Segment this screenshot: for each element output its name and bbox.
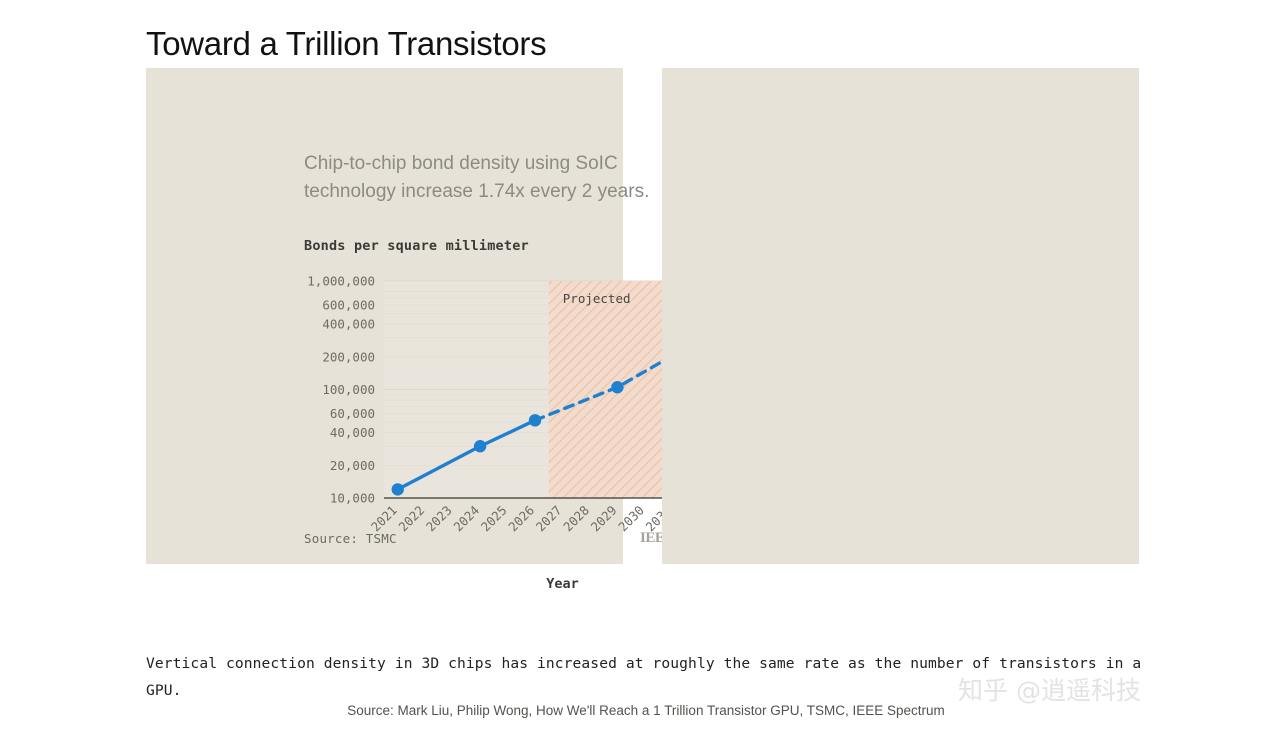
- x-axis-tick-label: 2026: [505, 503, 537, 535]
- y-axis-tick-label: 20,000: [330, 458, 375, 473]
- left-source-note: Source: TSMC: [304, 531, 397, 546]
- x-axis-tick-label: 2021: [368, 503, 400, 535]
- data-point: [392, 483, 404, 495]
- y-axis-tick-label: 100,000: [322, 382, 375, 397]
- y-axis-tick-label: 60,000: [330, 406, 375, 421]
- right-chart-panel: Transistors per processor are increasing…: [662, 68, 1139, 564]
- x-axis-tick-label: 2024: [450, 503, 482, 535]
- y-axis-tick-label: 40,000: [330, 425, 375, 440]
- x-axis-tick-label: 2023: [423, 503, 455, 535]
- y-axis-tick-label: 200,000: [322, 349, 375, 364]
- slide-root: Toward a Trillion Transistors Chip-to-ch…: [0, 0, 1269, 735]
- left-y-axis-title: Bonds per square millimeter: [304, 238, 529, 254]
- data-point: [474, 440, 486, 452]
- x-axis-title: Year: [546, 576, 579, 592]
- projected-region-label: Projected: [563, 291, 631, 306]
- y-axis-tick-label: 10,000: [330, 491, 375, 506]
- y-axis-tick-label: 400,000: [322, 317, 375, 332]
- watermark: 知乎 @逍遥科技: [958, 671, 1141, 707]
- data-point: [529, 414, 541, 426]
- y-axis-tick-label: 600,000: [322, 298, 375, 313]
- x-axis-tick-label: 2022: [395, 503, 427, 535]
- x-axis-tick-label: 2025: [478, 503, 510, 535]
- x-axis-tick-label: 2028: [560, 503, 592, 535]
- page-title: Toward a Trillion Transistors: [146, 22, 546, 66]
- data-point: [611, 381, 623, 393]
- left-panel-subtitle: Chip-to-chip bond density using SoIC tec…: [304, 150, 704, 206]
- y-axis-tick-label: 1,000,000: [307, 274, 375, 289]
- x-axis-tick-label: 2027: [533, 503, 565, 535]
- left-chart-panel: Chip-to-chip bond density using SoIC tec…: [146, 68, 623, 564]
- x-axis-tick-label: 2029: [588, 503, 620, 535]
